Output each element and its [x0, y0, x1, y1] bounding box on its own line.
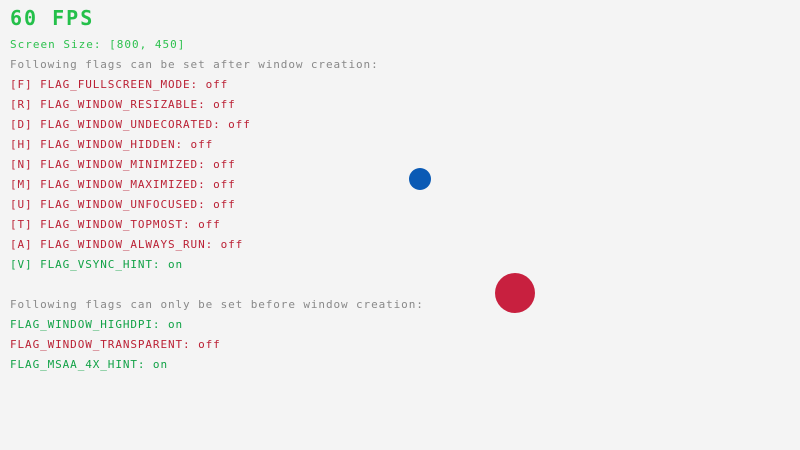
flag-row[interactable]: [R] FLAG_WINDOW_RESIZABLE: off — [10, 98, 236, 111]
flag-row[interactable]: [M] FLAG_WINDOW_MAXIMIZED: off — [10, 178, 236, 191]
flag-row[interactable]: FLAG_WINDOW_HIGHDPI: on — [10, 318, 183, 331]
creation-flags-heading: Following flags can only be set before w… — [10, 298, 424, 311]
flag-row[interactable]: [H] FLAG_WINDOW_HIDDEN: off — [10, 138, 213, 151]
flag-row[interactable]: FLAG_WINDOW_TRANSPARENT: off — [10, 338, 221, 351]
flag-row[interactable]: [N] FLAG_WINDOW_MINIMIZED: off — [10, 158, 236, 171]
app-canvas[interactable]: 60 FPS Screen Size: [800, 450] Following… — [0, 0, 800, 450]
runtime-flags-heading: Following flags can be set after window … — [10, 58, 379, 71]
flag-row[interactable]: [V] FLAG_VSYNC_HINT: on — [10, 258, 183, 271]
flag-row[interactable]: [A] FLAG_WINDOW_ALWAYS_RUN: off — [10, 238, 243, 251]
flag-row[interactable]: [D] FLAG_WINDOW_UNDECORATED: off — [10, 118, 251, 131]
fps-counter: 60 FPS — [10, 6, 94, 30]
flag-row[interactable]: FLAG_MSAA_4X_HINT: on — [10, 358, 168, 371]
flag-row[interactable]: [F] FLAG_FULLSCREEN_MODE: off — [10, 78, 228, 91]
flag-row[interactable]: [T] FLAG_WINDOW_TOPMOST: off — [10, 218, 221, 231]
blue-ball-shape — [409, 168, 431, 190]
red-ball-shape — [495, 273, 535, 313]
screen-size-label: Screen Size: [800, 450] — [10, 38, 185, 51]
flag-row[interactable]: [U] FLAG_WINDOW_UNFOCUSED: off — [10, 198, 236, 211]
